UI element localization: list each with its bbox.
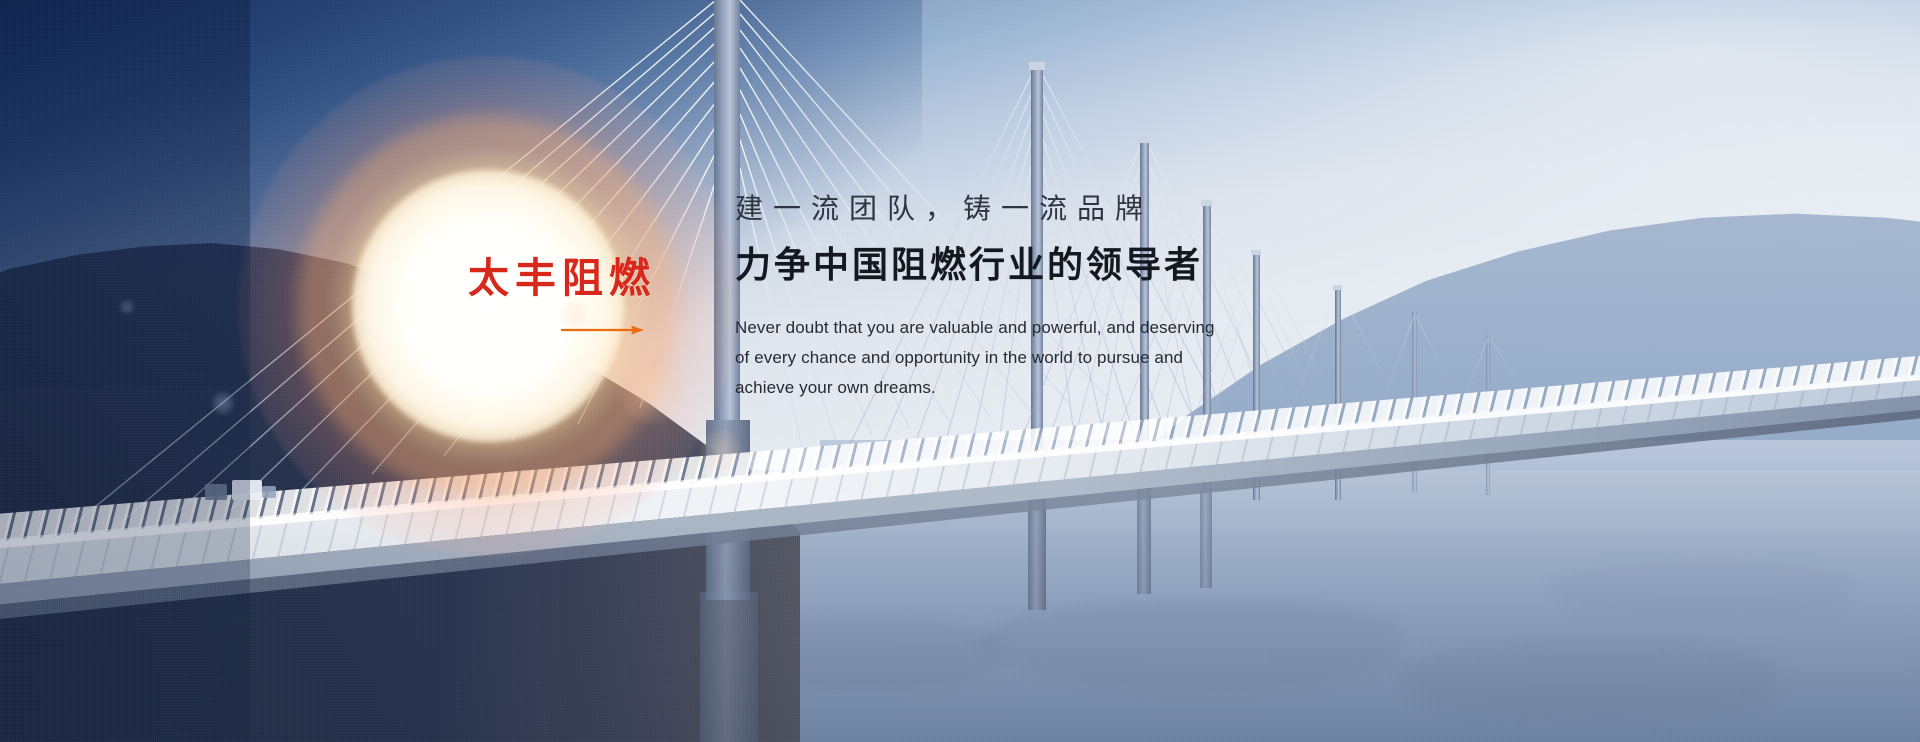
hero-banner: 太丰阻燃 建一流团队，铸一流品牌 力争中国阻燃行业的领导者 Never doub… (0, 0, 1920, 742)
slogan-block: 建一流团队，铸一流品牌 力争中国阻燃行业的领导者 Never doubt tha… (735, 192, 1375, 404)
right-arrow-icon (561, 324, 644, 336)
subcopy-paragraph: Never doubt that you are valuable and po… (735, 313, 1375, 404)
banner-content: 太丰阻燃 建一流团队，铸一流品牌 力争中国阻燃行业的领导者 Never doub… (0, 0, 1920, 742)
subcopy-line-2: of every chance and opportunity in the w… (735, 343, 1375, 373)
subcopy-line-3: achieve your own dreams. (735, 373, 1375, 403)
headline-primary: 力争中国阻燃行业的领导者 (735, 244, 1375, 287)
headline-secondary: 建一流团队，铸一流品牌 (735, 192, 1375, 226)
brand-logo[interactable]: 太丰阻燃 (468, 258, 668, 299)
brand-logo-text: 太丰阻燃 (468, 258, 668, 299)
subcopy-line-1: Never doubt that you are valuable and po… (735, 313, 1375, 343)
